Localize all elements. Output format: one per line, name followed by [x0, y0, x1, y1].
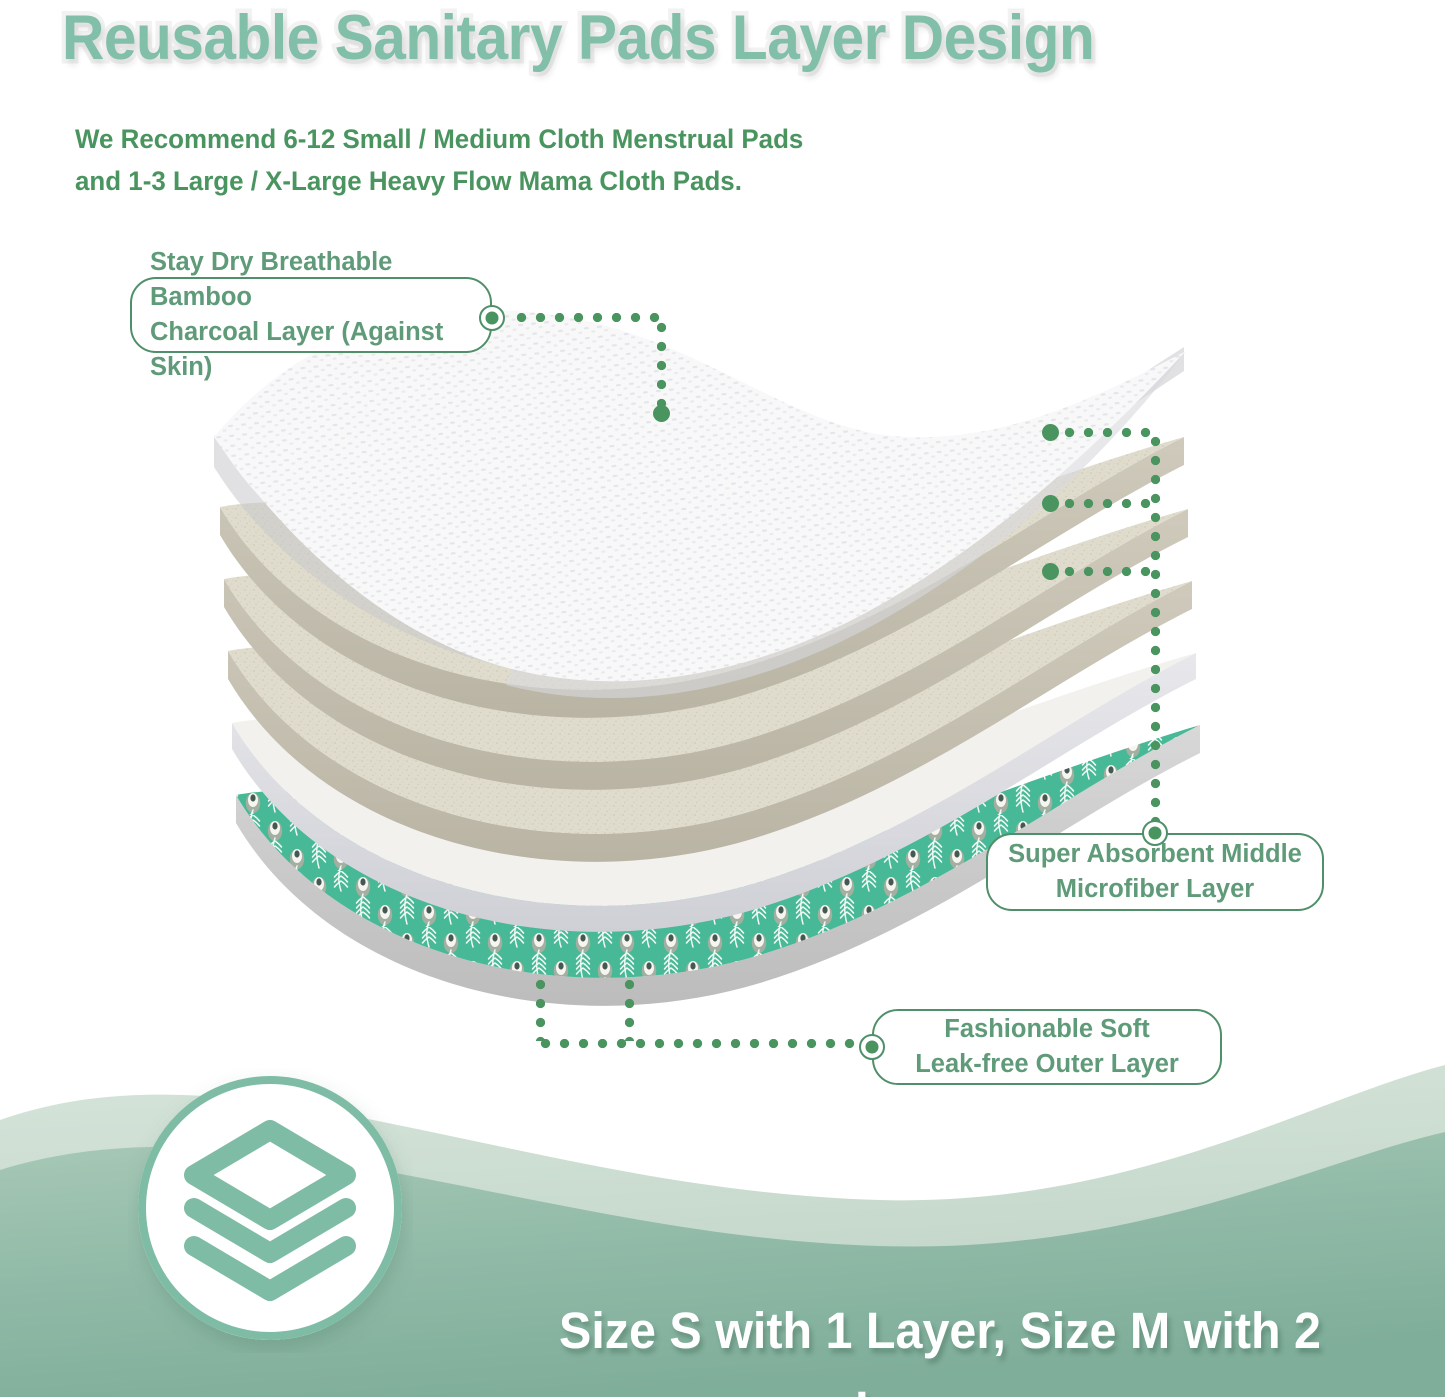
- page-title: Reusable Sanitary Pads Layer Design: [62, 4, 1094, 72]
- connector-mid-branch3: [1060, 567, 1160, 576]
- infographic-root: Stay Dry Breathable Bamboo Charcoal Laye…: [0, 0, 1445, 1397]
- connector-bot-drop-right: [625, 975, 634, 1041]
- callout-top-connector-node: [479, 305, 505, 331]
- layers-badge: [128, 1068, 413, 1353]
- connector-bot-drop-left: [536, 975, 545, 1041]
- callout-bottom-connector-node: [859, 1034, 885, 1060]
- connector-mid-branch1: [1060, 428, 1160, 437]
- connector-mid-spine: [1151, 432, 1160, 827]
- footer-size-text: Size S with 1 Layer, Size M with 2 Layer…: [470, 1212, 1411, 1397]
- connector-top-endpoint: [653, 405, 670, 422]
- connector-mid-branch2-dot: [1042, 495, 1059, 512]
- connector-mid-branch2: [1060, 499, 1160, 508]
- connector-mid-branch3-dot: [1042, 563, 1059, 580]
- connector-mid-branch1-dot: [1042, 424, 1059, 441]
- callout-bamboo-charcoal-layer[interactable]: Stay Dry Breathable Bamboo Charcoal Laye…: [130, 277, 492, 353]
- callout-middle-connector-node: [1142, 820, 1168, 846]
- page-subtitle: We Recommend 6-12 Small / Medium Cloth M…: [75, 118, 803, 202]
- connector-top-horizontal: [512, 313, 662, 322]
- connector-bot-horizontal: [536, 1039, 866, 1048]
- footer-line-1: Size S with 1 Layer, Size M with 2 Layer…: [559, 1302, 1321, 1397]
- connector-top-vertical: [657, 318, 666, 413]
- callout-outer-layer[interactable]: Fashionable Soft Leak-free Outer Layer: [872, 1009, 1222, 1085]
